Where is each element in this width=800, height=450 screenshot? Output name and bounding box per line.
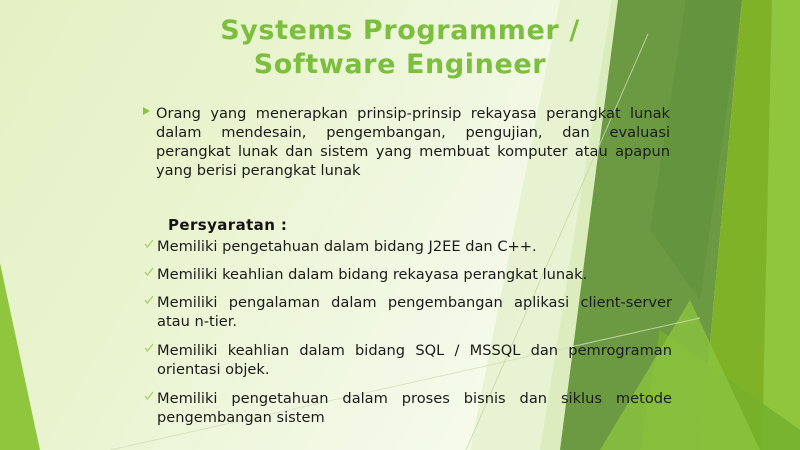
check-icon: [144, 267, 154, 277]
list-item: Memiliki keahlian dalam bidang SQL / MSS…: [143, 342, 672, 380]
intro-paragraph: Orang yang menerapkan prinsip-prinsip re…: [143, 104, 670, 180]
list-item: Memiliki pengetahuan dalam bidang J2EE d…: [143, 238, 672, 257]
requirements-heading: Persyaratan :: [168, 216, 287, 234]
check-icon: [144, 295, 154, 305]
presentation-slide: Systems Programmer / Software Engineer O…: [0, 0, 800, 450]
slide-content: Systems Programmer / Software Engineer O…: [0, 0, 800, 450]
intro-paragraph-block: Orang yang menerapkan prinsip-prinsip re…: [143, 104, 670, 180]
triangle-bullet-icon: [143, 107, 150, 115]
list-item-label: Memiliki pengalaman dalam pengembangan a…: [157, 294, 672, 330]
list-item-label: Memiliki keahlian dalam bidang rekayasa …: [157, 266, 587, 283]
check-icon: [144, 343, 154, 353]
requirements-list: Memiliki pengetahuan dalam bidang J2EE d…: [143, 238, 672, 438]
list-item-label: Memiliki pengetahuan dalam bidang J2EE d…: [157, 238, 537, 255]
list-item: Memiliki pengetahuan dalam proses bisnis…: [143, 390, 672, 428]
list-item: Memiliki keahlian dalam bidang rekayasa …: [143, 266, 672, 285]
page-title: Systems Programmer / Software Engineer: [150, 14, 650, 82]
intro-paragraph-text: Orang yang menerapkan prinsip-prinsip re…: [156, 105, 670, 179]
check-icon: [144, 391, 154, 401]
list-item-label: Memiliki pengetahuan dalam proses bisnis…: [157, 390, 672, 426]
list-item: Memiliki pengalaman dalam pengembangan a…: [143, 294, 672, 332]
check-icon: [144, 239, 154, 249]
list-item-label: Memiliki keahlian dalam bidang SQL / MSS…: [157, 342, 672, 378]
